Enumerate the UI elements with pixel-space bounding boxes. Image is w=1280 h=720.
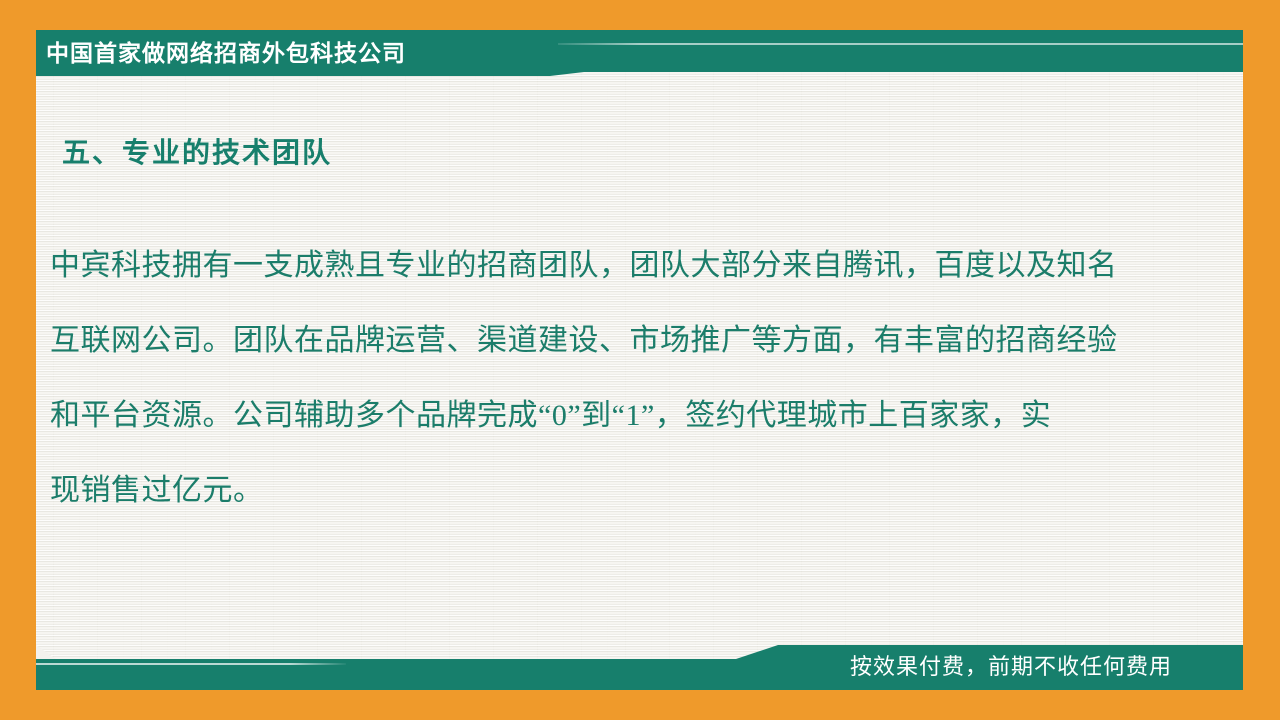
body-paragraph: 中宾科技拥有一支成熟且专业的招商团队，团队大部分来自腾讯，百度以及知名 互联网公… xyxy=(50,228,1185,528)
presentation-slide: 中国首家做网络招商外包科技公司 五、专业的技术团队 中宾科技拥有一支成熟且专业的… xyxy=(0,0,1280,720)
body-line-1: 中宾科技拥有一支成熟且专业的招商团队，团队大部分来自腾讯，百度以及知名 xyxy=(50,228,1185,303)
body-line-2: 互联网公司。团队在品牌运营、渠道建设、市场推广等方面，有丰富的招商经验 xyxy=(50,303,1185,378)
header-hairline-divider xyxy=(558,43,1243,45)
footer-hairline-divider xyxy=(36,663,346,665)
body-line-3: 和平台资源。公司辅助多个品牌完成“0”到“1”，签约代理城市上百家家，实 xyxy=(50,378,1185,453)
frame-border-left xyxy=(0,0,36,720)
frame-border-right xyxy=(1243,0,1280,720)
footer-tagline: 按效果付费，前期不收任何费用 xyxy=(850,650,1172,684)
header-title: 中国首家做网络招商外包科技公司 xyxy=(46,33,406,73)
body-line-4: 现销售过亿元。 xyxy=(50,453,1185,528)
frame-border-top xyxy=(0,0,1280,30)
frame-border-bottom xyxy=(0,690,1280,720)
section-heading: 五、专业的技术团队 xyxy=(62,133,332,173)
